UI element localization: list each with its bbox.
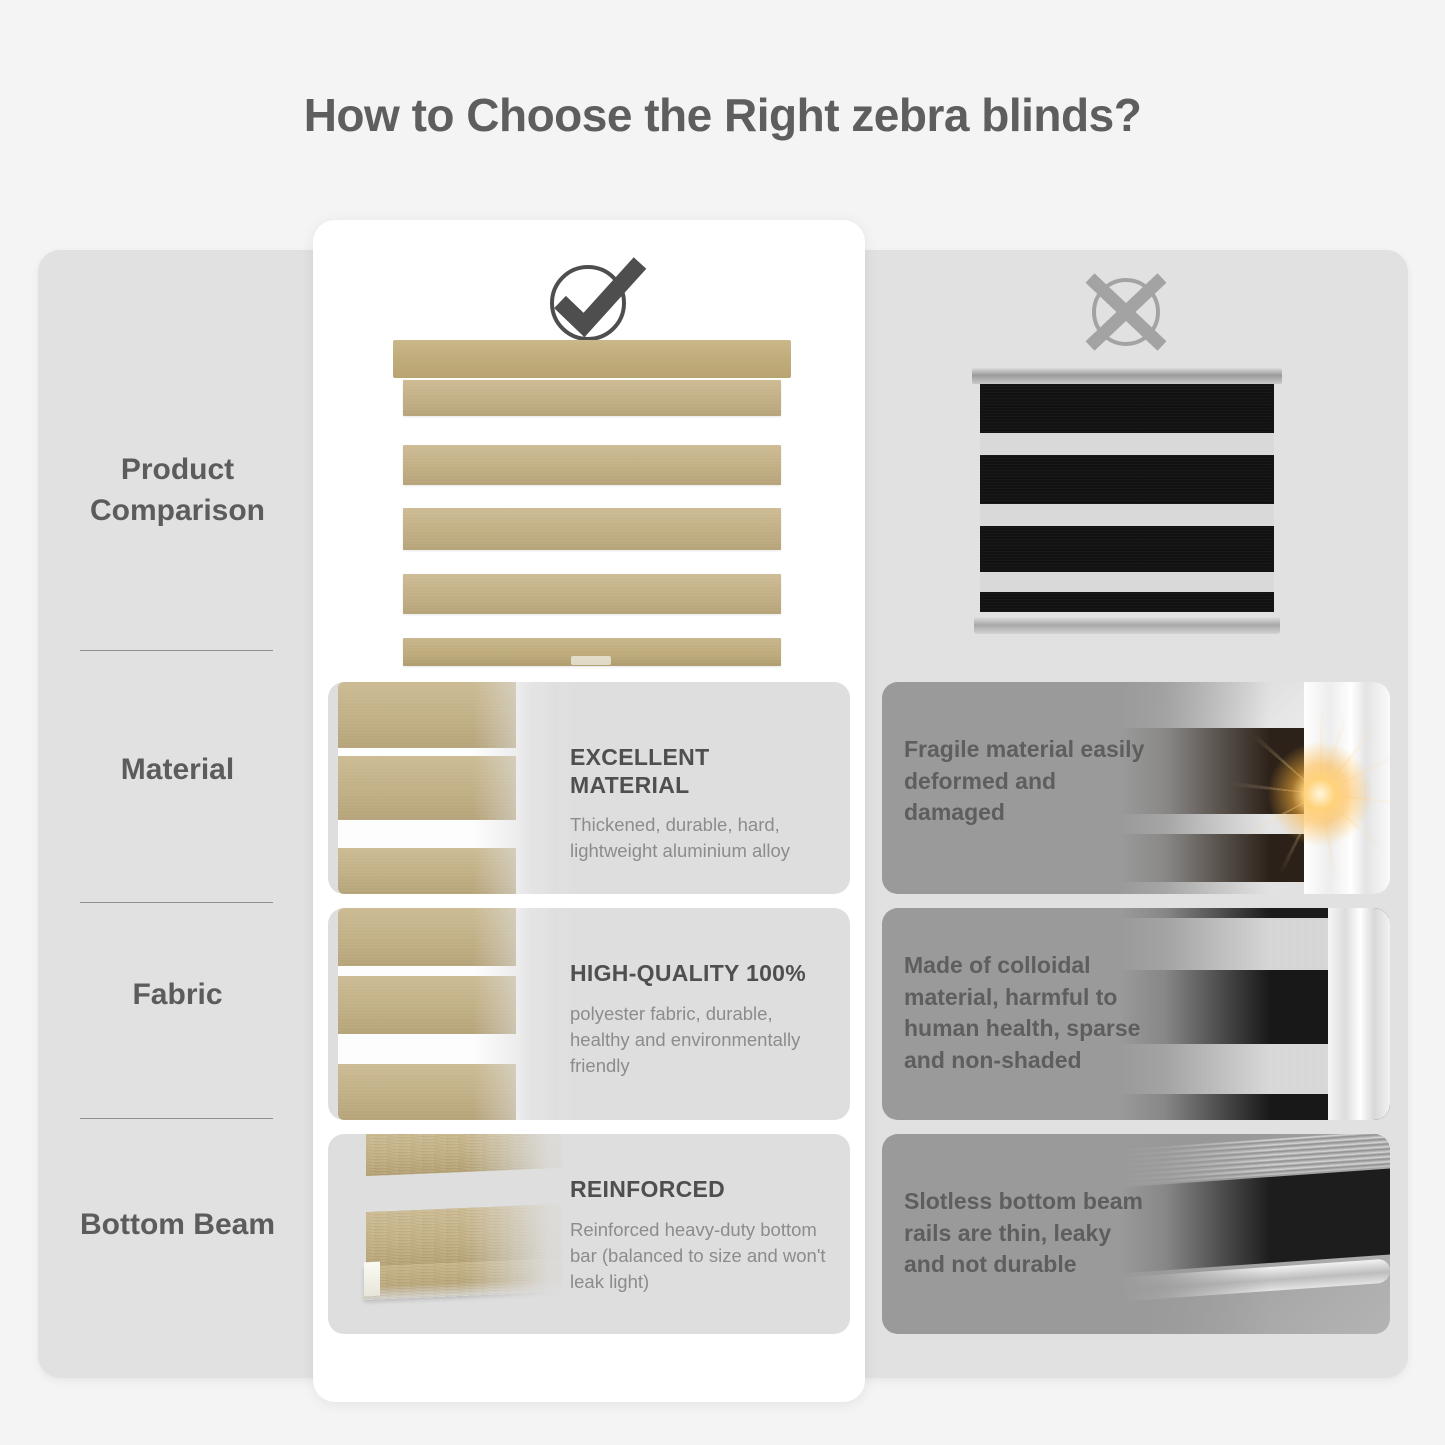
- good-card-material: EXCELLENT MATERIAL Thickened, durable, h…: [328, 682, 850, 894]
- card-text: HIGH-QUALITY 100% polyester fabric, dura…: [570, 960, 832, 1079]
- card-body: Reinforced heavy-duty bottom bar (balanc…: [570, 1217, 832, 1296]
- card-heading: REINFORCED: [570, 1176, 832, 1204]
- sidebar-divider: [80, 650, 273, 651]
- image-sun-leak-window: [1120, 682, 1390, 894]
- sidebar-divider: [80, 902, 273, 903]
- check-circle-icon: [540, 255, 650, 345]
- sidebar-label: Material: [121, 749, 234, 790]
- sidebar-divider: [80, 1118, 273, 1119]
- blind-slat: [403, 508, 781, 550]
- sidebar-item-product-comparison: Product Comparison: [40, 415, 315, 565]
- bad-card-bottom-beam: Slotless bottom beam rails are thin, lea…: [882, 1134, 1390, 1334]
- blind-slat: [403, 445, 781, 485]
- card-body: Slotless bottom beam rails are thin, lea…: [904, 1186, 1154, 1281]
- sidebar-item-fabric: Fabric: [40, 940, 315, 1050]
- bad-card-fabric: Made of colloidal material, harmful to h…: [882, 908, 1390, 1120]
- sidebar-item-bottom-beam: Bottom Beam: [40, 1150, 315, 1300]
- pull-handle: [571, 656, 611, 665]
- cross-circle-icon: [1078, 268, 1174, 356]
- card-body: Fragile material easily deformed and dam…: [904, 734, 1154, 829]
- card-text: Slotless bottom beam rails are thin, lea…: [904, 1186, 1154, 1281]
- sidebar-item-material: Material: [40, 715, 315, 825]
- bad-card-material: Fragile material easily deformed and dam…: [882, 682, 1390, 894]
- sidebar-label: Bottom Beam: [80, 1204, 275, 1245]
- hero-image-beige-zebra-blind: [393, 340, 791, 665]
- sidebar-label: Product Comparison: [40, 449, 315, 532]
- headrail: [972, 368, 1282, 384]
- good-card-fabric: HIGH-QUALITY 100% polyester fabric, dura…: [328, 908, 850, 1120]
- card-body: Thickened, durable, hard, lightweight al…: [570, 812, 832, 865]
- card-body: polyester fabric, durable, healthy and e…: [570, 1001, 832, 1080]
- blind-slat: [403, 380, 781, 416]
- blind-slat: [403, 574, 781, 614]
- card-text: REINFORCED Reinforced heavy-duty bottom …: [570, 1176, 832, 1295]
- blind-fabric: [980, 384, 1274, 612]
- card-text: EXCELLENT MATERIAL Thickened, durable, h…: [570, 744, 832, 865]
- image-black-white-striped-blind: [1120, 908, 1390, 1120]
- card-text: Made of colloidal material, harmful to h…: [904, 950, 1154, 1076]
- card-heading: EXCELLENT MATERIAL: [570, 744, 832, 799]
- hero-image-black-zebra-blind: [972, 368, 1282, 648]
- bottom-rail: [974, 616, 1280, 634]
- card-heading: HIGH-QUALITY 100%: [570, 960, 832, 988]
- infographic-root: How to Choose the Right zebra blinds? Pr…: [0, 0, 1445, 1445]
- image-thin-bottom-rail: [1120, 1134, 1390, 1334]
- page-title: How to Choose the Right zebra blinds?: [0, 88, 1445, 142]
- card-body: Made of colloidal material, harmful to h…: [904, 950, 1154, 1076]
- good-card-bottom-beam: REINFORCED Reinforced heavy-duty bottom …: [328, 1134, 850, 1334]
- card-text: Fragile material easily deformed and dam…: [904, 734, 1154, 829]
- sidebar-label: Fabric: [132, 974, 222, 1015]
- sidebar-categories: Product Comparison Material Fabric Botto…: [40, 250, 315, 1378]
- headrail: [393, 340, 791, 378]
